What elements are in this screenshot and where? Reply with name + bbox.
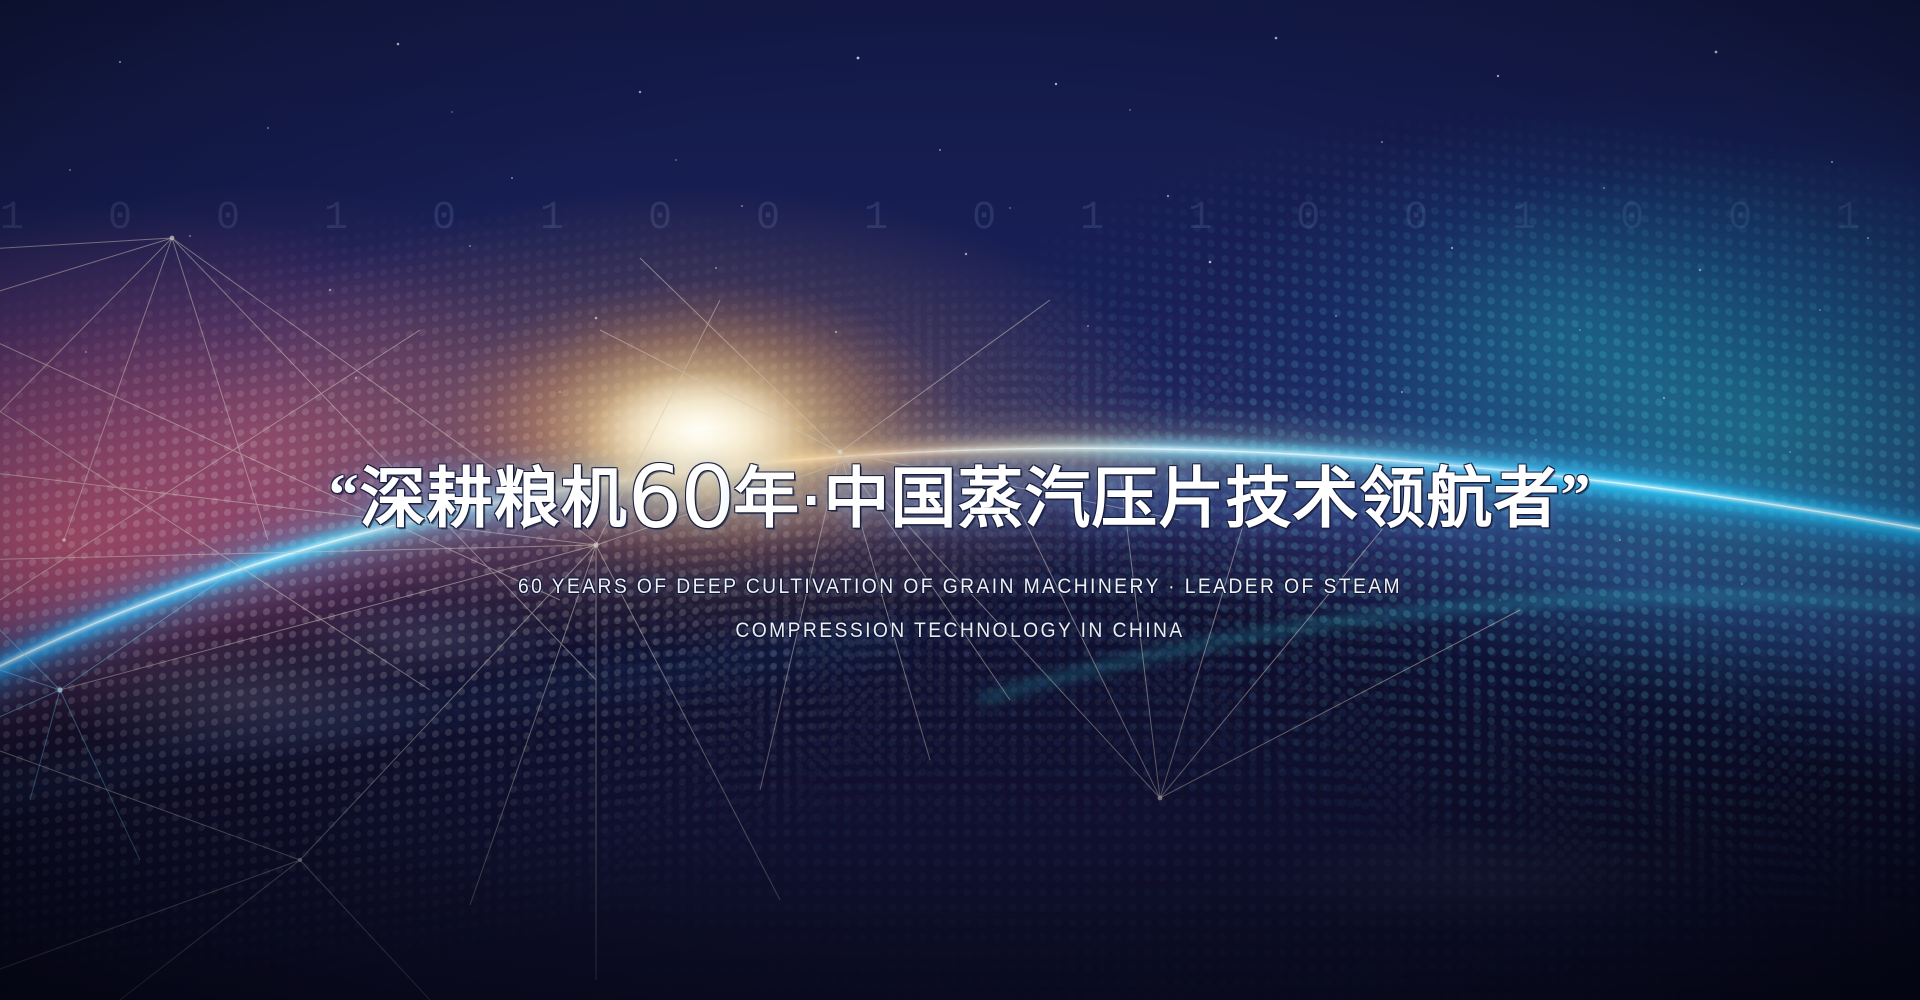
- title-number-60: 60: [628, 448, 733, 548]
- subtitle-line-1: 60 YEARS OF DEEP CULTIVATION OF GRAIN MA…: [77, 575, 1843, 599]
- ghost-binary-digits: 1 0 0 1 0 1 0 0 1 0 1 1 0 0 1 0 0 1 1 0: [0, 196, 1920, 241]
- title-segment-1: 深耕粮机: [360, 460, 628, 537]
- close-quote: ”: [1560, 462, 1591, 528]
- title-segment-3: 中国蒸汽压片技术领航者: [823, 460, 1560, 537]
- main-title: “深耕粮机60年·中国蒸汽压片技术领航者”: [0, 455, 1920, 541]
- subtitle-line-2: COMPRESSION TECHNOLOGY IN CHINA: [77, 619, 1843, 643]
- open-quote: “: [329, 462, 360, 528]
- title-segment-2: 年: [733, 460, 800, 537]
- banner-text-block: “深耕粮机60年·中国蒸汽压片技术领航者” 60 YEARS OF DEEP C…: [0, 455, 1920, 643]
- banner-canvas: 1 0 0 1 0 1 0 0 1 0 1 1 0 0 1 0 0 1 1 0: [0, 0, 1920, 1000]
- title-separator: ·: [800, 473, 823, 529]
